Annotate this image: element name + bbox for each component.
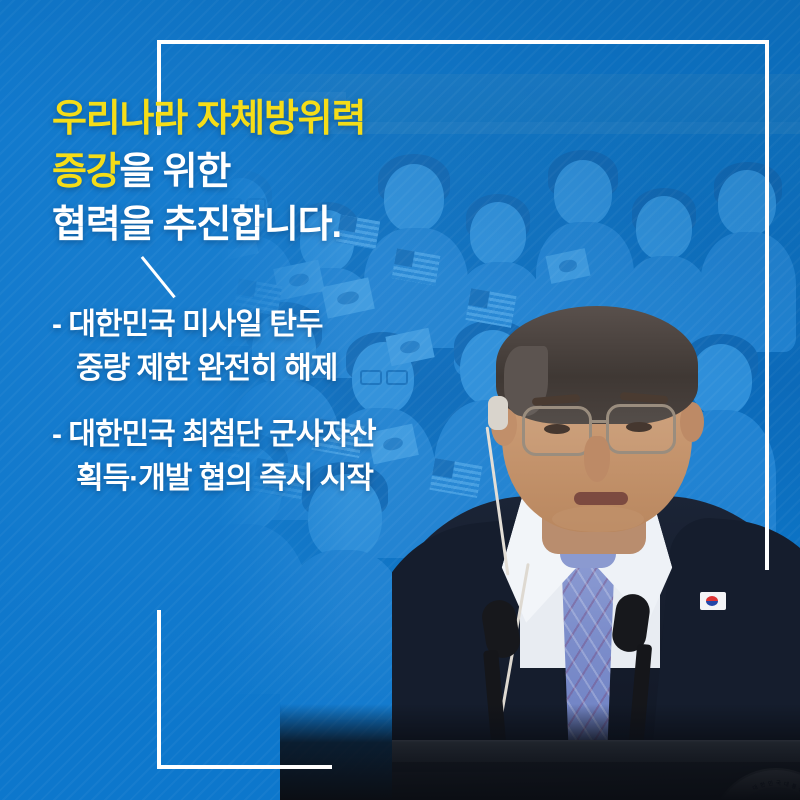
stage-floor-shadow xyxy=(280,704,800,800)
chin-shadow xyxy=(552,506,644,532)
frame-line-top xyxy=(157,40,769,44)
frame-line-bottom xyxy=(157,765,332,769)
frame-line-right xyxy=(765,40,769,570)
bullet-2-line-1: - 대한민국 최첨단 군사자산 xyxy=(52,413,522,457)
korean-flag-lapel-pin-icon xyxy=(700,592,726,610)
diagonal-accent-tick xyxy=(143,256,181,298)
headline-line-2: 증강을 위한 xyxy=(52,146,512,199)
nose xyxy=(584,436,610,482)
promo-card: 대한민국대통령THE PRESIDENT OF THE REPUBLIC OF … xyxy=(0,0,800,800)
headline-line-3: 협력을 추진합니다. xyxy=(52,199,512,252)
frame-line-bottom-left xyxy=(157,610,161,769)
bullet-1-line-1: - 대한민국 미사일 탄두 xyxy=(52,303,522,347)
list-item: - 대한민국 최첨단 군사자산 획득·개발 협의 즉시 시작 xyxy=(52,413,522,501)
headline-line-1: 우리나라 자체방위력 xyxy=(52,93,512,146)
bullet-1-text-1: 대한민국 미사일 탄두 xyxy=(68,308,322,341)
list-item: - 대한민국 미사일 탄두 중량 제한 완전히 해제 xyxy=(52,303,522,391)
headline-line-2-rest: 을 위한 xyxy=(120,151,231,193)
bullet-2-line-2: 획득·개발 협의 즉시 시작 xyxy=(52,457,522,501)
eyeglass-lens-left xyxy=(522,406,592,456)
bullet-list: - 대한민국 미사일 탄두 중량 제한 완전히 해제 - 대한민국 최첨단 군사… xyxy=(52,303,522,523)
bullet-2-text-1: 대한민국 최첨단 군사자산 xyxy=(68,418,375,451)
headline-line-2-highlight: 증강 xyxy=(52,151,120,193)
eyeglass-bridge xyxy=(592,420,608,423)
mouth xyxy=(574,492,628,505)
bullet-1-marker: - xyxy=(52,308,61,341)
bullet-2-marker: - xyxy=(52,418,61,451)
headline: 우리나라 자체방위력 증강을 위한 협력을 추진합니다. xyxy=(52,93,512,252)
eyeglass-lens-right xyxy=(606,404,676,454)
bullet-1-line-2: 중량 제한 완전히 해제 xyxy=(52,347,522,391)
